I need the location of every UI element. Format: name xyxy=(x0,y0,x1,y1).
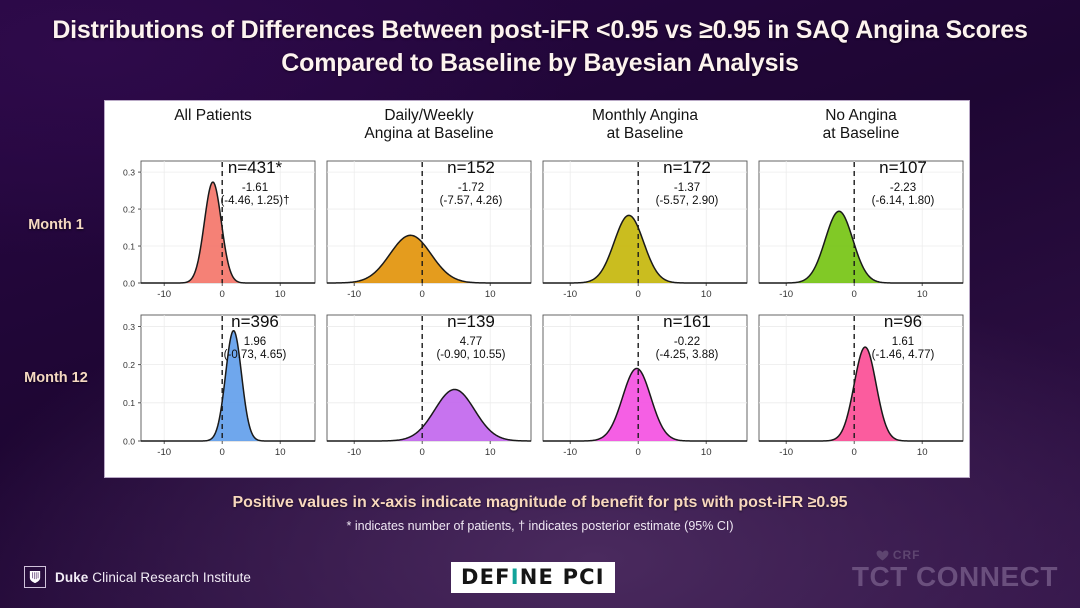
panel-posterior-estimate: -1.37 xyxy=(627,181,747,195)
panel-posterior-estimate: -1.61 xyxy=(195,181,315,195)
panel-posterior-estimate: 4.77 xyxy=(411,335,531,349)
distribution-chart-panel: All Patients Daily/Weekly Angina at Base… xyxy=(104,100,970,478)
svg-text:0.2: 0.2 xyxy=(123,204,135,214)
svg-text:0.0: 0.0 xyxy=(123,278,135,288)
panel-posterior-estimate: 1.96 xyxy=(195,335,315,349)
page-title: Distributions of Differences Between pos… xyxy=(48,14,1032,79)
facet-row-month-1: 0.00.10.20.3-10010n=431*-1.61(-4.46, 1.2… xyxy=(105,155,969,309)
panel-sample-size: n=139 xyxy=(411,313,531,331)
define-logo-part-i: I xyxy=(511,565,520,589)
tct-connect-logo: CRF TCT CONNECT xyxy=(852,548,1058,591)
duke-logo-bold: Duke xyxy=(55,570,88,585)
panel-credible-interval: (-0.73, 4.65) xyxy=(195,349,315,363)
crf-logo-text: CRF xyxy=(893,548,921,562)
svg-text:0.1: 0.1 xyxy=(123,241,135,251)
panel-annotation: n=161-0.22(-4.25, 3.88) xyxy=(627,313,747,363)
panel-annotation: n=172-1.37(-5.57, 2.90) xyxy=(627,159,747,209)
define-logo-part-b: NE PCI xyxy=(520,565,605,589)
panel-credible-interval: (-4.25, 3.88) xyxy=(627,349,747,363)
panel-annotation: n=961.61(-1.46, 4.77) xyxy=(843,313,963,363)
panel-month12-all-patients: 0.00.10.20.3-10010n=3961.96(-0.73, 4.65) xyxy=(105,309,321,467)
svg-text:10: 10 xyxy=(485,289,496,300)
panel-month1-monthly-angina: -10010n=172-1.37(-5.57, 2.90) xyxy=(537,155,753,309)
panel-sample-size: n=396 xyxy=(195,313,315,331)
svg-text:0: 0 xyxy=(852,447,857,458)
svg-text:0: 0 xyxy=(220,447,225,458)
panel-annotation: n=107-2.23(-6.14, 1.80) xyxy=(843,159,963,209)
svg-text:10: 10 xyxy=(485,447,496,458)
duke-logo-rest: Clinical Research Institute xyxy=(88,570,251,585)
duke-logo-text: Duke Clinical Research Institute xyxy=(55,570,251,585)
footer-note-secondary: * indicates number of patients, † indica… xyxy=(40,519,1040,533)
svg-text:0.2: 0.2 xyxy=(123,360,135,370)
svg-text:-10: -10 xyxy=(157,289,171,300)
svg-text:10: 10 xyxy=(275,289,286,300)
define-logo-part-a: DEF xyxy=(461,565,511,589)
facet-grid: 0.00.10.20.3-10010n=431*-1.61(-4.46, 1.2… xyxy=(105,155,969,477)
panel-credible-interval: (-1.46, 4.77) xyxy=(843,349,963,363)
panel-credible-interval: (-0.90, 10.55) xyxy=(411,349,531,363)
svg-text:-10: -10 xyxy=(563,447,577,458)
panel-annotation: n=1394.77(-0.90, 10.55) xyxy=(411,313,531,363)
svg-text:10: 10 xyxy=(917,447,928,458)
panel-sample-size: n=152 xyxy=(411,159,531,177)
svg-text:-10: -10 xyxy=(779,289,793,300)
svg-text:0.0: 0.0 xyxy=(123,436,135,446)
svg-text:0.1: 0.1 xyxy=(123,398,135,408)
panel-posterior-estimate: 1.61 xyxy=(843,335,963,349)
tct-connect-text: TCT CONNECT xyxy=(852,563,1058,591)
panel-annotation: n=152-1.72(-7.57, 4.26) xyxy=(411,159,531,209)
panel-credible-interval: (-7.57, 4.26) xyxy=(411,195,531,209)
svg-text:10: 10 xyxy=(917,289,928,300)
row-label-month-12: Month 12 xyxy=(8,370,104,386)
svg-text:0: 0 xyxy=(220,289,225,300)
panel-month12-no-angina: -10010n=961.61(-1.46, 4.77) xyxy=(753,309,969,467)
panel-sample-size: n=172 xyxy=(627,159,747,177)
crf-logo: CRF xyxy=(852,548,1058,562)
svg-text:0.3: 0.3 xyxy=(123,167,135,177)
panel-credible-interval: (-6.14, 1.80) xyxy=(843,195,963,209)
facet-row-month-12: 0.00.10.20.3-10010n=3961.96(-0.73, 4.65)… xyxy=(105,309,969,467)
svg-text:-10: -10 xyxy=(347,289,361,300)
panel-month1-no-angina: -10010n=107-2.23(-6.14, 1.80) xyxy=(753,155,969,309)
svg-text:10: 10 xyxy=(701,447,712,458)
facet-header-daily-weekly: Daily/Weekly Angina at Baseline xyxy=(321,103,537,155)
panel-posterior-estimate: -2.23 xyxy=(843,181,963,195)
panel-month12-monthly-angina: -10010n=161-0.22(-4.25, 3.88) xyxy=(537,309,753,467)
svg-text:0: 0 xyxy=(852,289,857,300)
facet-header-all-patients: All Patients xyxy=(105,103,321,155)
svg-text:-10: -10 xyxy=(779,447,793,458)
footer-note-primary: Positive values in x-axis indicate magni… xyxy=(40,494,1040,512)
panel-month12-daily-weekly: -10010n=1394.77(-0.90, 10.55) xyxy=(321,309,537,467)
svg-text:-10: -10 xyxy=(157,447,171,458)
facet-column-headers: All Patients Daily/Weekly Angina at Base… xyxy=(105,103,969,155)
panel-posterior-estimate: -1.72 xyxy=(411,181,531,195)
panel-posterior-estimate: -0.22 xyxy=(627,335,747,349)
facet-header-no-angina: No Angina at Baseline xyxy=(753,103,969,155)
define-pci-logo: DEFINE PCI xyxy=(451,562,615,593)
svg-text:-10: -10 xyxy=(347,447,361,458)
panel-sample-size: n=161 xyxy=(627,313,747,331)
panel-sample-size: n=107 xyxy=(843,159,963,177)
panel-month1-daily-weekly: -10010n=152-1.72(-7.57, 4.26) xyxy=(321,155,537,309)
svg-text:0: 0 xyxy=(636,447,641,458)
svg-text:0: 0 xyxy=(420,289,425,300)
svg-text:-10: -10 xyxy=(563,289,577,300)
svg-text:10: 10 xyxy=(701,289,712,300)
facet-header-monthly-angina: Monthly Angina at Baseline xyxy=(537,103,753,155)
panel-annotation: n=431*-1.61(-4.46, 1.25)† xyxy=(195,159,315,209)
heart-icon xyxy=(876,550,889,561)
row-label-month-1: Month 1 xyxy=(8,217,104,233)
duke-shield-icon xyxy=(24,566,46,588)
panel-credible-interval: (-4.46, 1.25)† xyxy=(195,195,315,209)
svg-text:10: 10 xyxy=(275,447,286,458)
duke-clinical-research-institute-logo: Duke Clinical Research Institute xyxy=(24,566,251,588)
panel-month1-all-patients: 0.00.10.20.3-10010n=431*-1.61(-4.46, 1.2… xyxy=(105,155,321,309)
svg-text:0.3: 0.3 xyxy=(123,322,135,332)
panel-credible-interval: (-5.57, 2.90) xyxy=(627,195,747,209)
panel-annotation: n=3961.96(-0.73, 4.65) xyxy=(195,313,315,363)
panel-sample-size: n=431* xyxy=(195,159,315,177)
svg-text:0: 0 xyxy=(636,289,641,300)
svg-text:0: 0 xyxy=(420,447,425,458)
panel-sample-size: n=96 xyxy=(843,313,963,331)
